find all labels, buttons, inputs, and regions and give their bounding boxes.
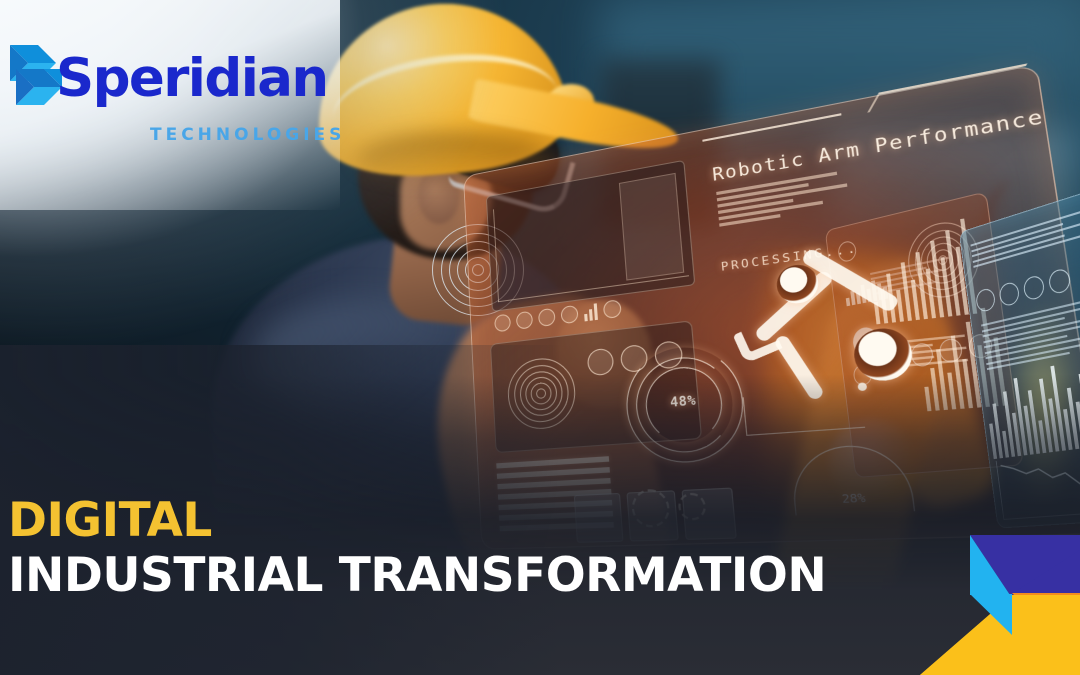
series-bar [529, 227, 533, 296]
brand-logo[interactable]: Speridian TECHNOLOGIES [8, 30, 328, 124]
robot-joint-icon [851, 326, 915, 383]
headline-block: DIGITAL INDUSTRIAL TRANSFORMATION [8, 497, 826, 601]
bar-chart-side-block [619, 173, 684, 281]
chip-icon [603, 299, 622, 319]
series-bar [523, 235, 527, 296]
hud-percent-gauge: 48% [620, 339, 751, 468]
series-bar [527, 249, 530, 296]
series-bar [548, 202, 554, 293]
series-bar [502, 274, 503, 299]
bar-chart-bars [495, 202, 554, 300]
ring-icon [1048, 267, 1072, 295]
chip-icon [560, 305, 578, 324]
series-bar [521, 259, 523, 296]
series-bar [539, 229, 543, 294]
gauge-icon [587, 348, 615, 377]
ring-icon [975, 287, 996, 313]
series-bar [517, 244, 520, 297]
brand-name: Speridian [56, 52, 328, 105]
series-bar [505, 266, 507, 299]
series-bar [515, 268, 517, 298]
series-bar [541, 207, 546, 294]
series-bar [533, 238, 537, 295]
dial-spiral-icon [505, 354, 578, 433]
series-bar [535, 218, 540, 295]
series-bar [499, 282, 500, 300]
brand-tagline: TECHNOLOGIES [150, 125, 345, 145]
ring-icon [1022, 274, 1045, 302]
chip-bars-icon [583, 302, 597, 321]
series-bar [509, 277, 510, 299]
headline-line-2: INDUSTRIAL TRANSFORMATION [8, 551, 826, 601]
chip-icon [538, 308, 556, 327]
headline-line-1: DIGITAL [8, 497, 826, 545]
marketing-banner: Robotic Arm Performance PROCESSING... [0, 0, 1080, 675]
series-bar [947, 372, 956, 409]
geometric-triangles-decoration-icon [900, 475, 1080, 675]
series-bar [510, 253, 513, 298]
series-bar [545, 220, 550, 293]
chip-icon [494, 314, 511, 333]
robot-arm-diagram [723, 220, 914, 409]
ring-icon [998, 281, 1020, 308]
chip-icon [516, 311, 533, 330]
